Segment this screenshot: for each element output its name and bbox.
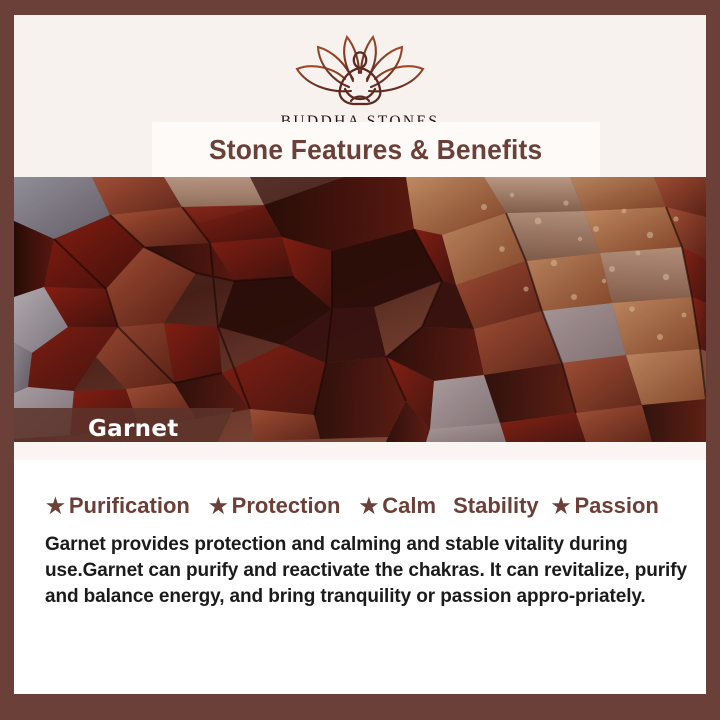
benefit-item-stability: Stability (453, 493, 539, 519)
benefit-label: Stability (453, 493, 539, 519)
page-title: Stone Features & Benefits (209, 134, 542, 166)
content-section: ★ Purification ★ Protection ★ Calm Stabi… (14, 442, 706, 694)
star-icon: ★ (359, 496, 378, 517)
brand-logo-block: BUDDHA STONES (14, 29, 706, 131)
stone-name-label: Garnet (88, 416, 179, 442)
benefit-label: Calm (382, 493, 436, 519)
benefit-item-purification: ★ Purification (46, 493, 190, 519)
stone-features-infographic: BUDDHA STONES (0, 0, 720, 720)
lotus-meditation-logo-icon (285, 29, 435, 111)
benefit-label: Purification (69, 493, 190, 519)
stone-description: Garnet provides protection and calming a… (45, 532, 690, 611)
star-icon: ★ (46, 496, 65, 517)
star-icon: ★ (209, 496, 228, 517)
garnet-crystal-cluster-image (14, 177, 706, 442)
benefit-item-passion: ★ Passion (552, 493, 659, 519)
benefit-item-calm: ★ Calm (359, 493, 436, 519)
star-icon: ★ (552, 496, 571, 517)
page-surface: BUDDHA STONES (14, 15, 706, 694)
frame-top-band (0, 0, 720, 15)
content-top-divider (14, 442, 706, 460)
page-title-panel: Stone Features & Benefits (152, 122, 600, 177)
stone-name-bar: Garnet (14, 408, 234, 442)
stone-photo: Garnet (14, 177, 706, 442)
frame-left-band (0, 0, 14, 720)
benefit-item-protection: ★ Protection (209, 493, 341, 519)
benefit-label: Protection (232, 493, 341, 519)
frame-right-band (706, 0, 720, 720)
frame-bottom-band (0, 694, 720, 720)
benefits-list: ★ Purification ★ Protection ★ Calm Stabi… (46, 493, 686, 519)
benefit-label: Passion (575, 493, 659, 519)
